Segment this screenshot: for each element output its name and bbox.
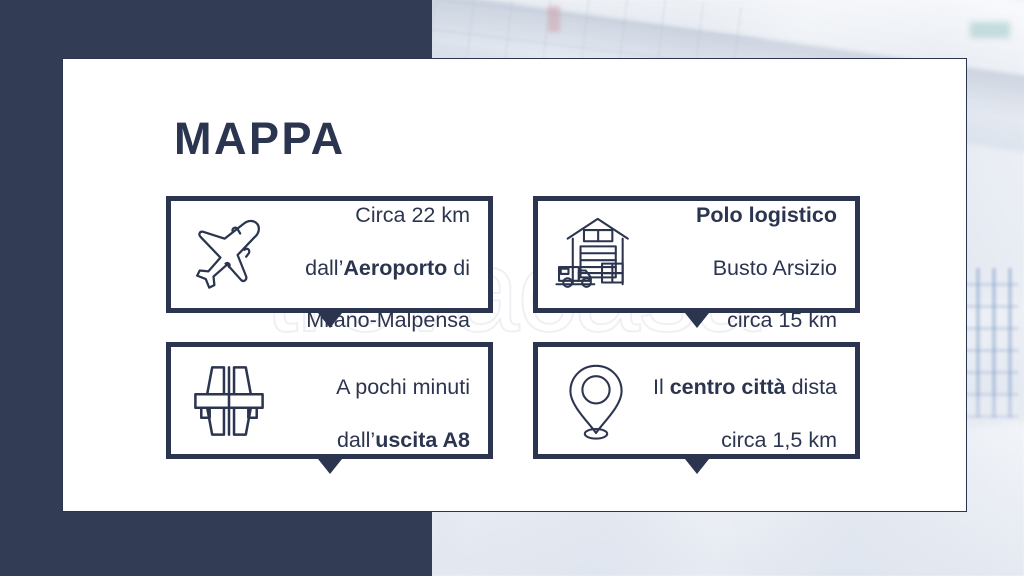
info-card-motorway-exit-text: A pochi minuti dall’uscita A8: [277, 348, 474, 453]
info-card-airport[interactable]: Circa 22 km dall’Aeroporto di Milano-Mal…: [166, 196, 493, 313]
info-card-grid: Circa 22 km dall’Aeroporto di Milano-Mal…: [166, 196, 860, 459]
down-triangle-icon: [681, 308, 713, 328]
airport-line-1: Circa 22 km: [355, 203, 470, 227]
logistics-line-1-bold: Polo logistico: [696, 203, 837, 227]
background-pink-accent: [548, 6, 560, 32]
info-card-city-centre-text: Il centro città dista circa 1,5 km: [644, 348, 841, 453]
city-line-2: circa 1,5 km: [721, 428, 837, 452]
down-triangle-icon: [314, 454, 346, 474]
map-pin-icon: [548, 353, 644, 449]
info-card-logistics-hub-text: Polo logistico Busto Arsizio circa 15 km: [644, 176, 841, 333]
logistics-line-3: circa 15 km: [727, 308, 837, 332]
background-teal-accent: [970, 22, 1010, 38]
motorway-line-2-prefix: dall’: [337, 428, 375, 452]
city-line-1-suffix: dista: [786, 375, 837, 399]
motorway-line-2-bold: uscita A8: [375, 428, 470, 452]
down-triangle-icon: [314, 308, 346, 328]
motorway-line-1: A pochi minuti: [336, 375, 470, 399]
page-title: MAPPA: [174, 113, 346, 165]
info-card-motorway-exit[interactable]: A pochi minuti dall’uscita A8: [166, 342, 493, 459]
info-card-city-centre[interactable]: Il centro città dista circa 1,5 km: [533, 342, 860, 459]
down-triangle-icon: [681, 454, 713, 474]
airport-line-2-prefix: dall’: [305, 256, 343, 280]
airplane-icon: [181, 207, 277, 303]
warehouse-truck-icon: [548, 207, 644, 303]
motorway-icon: [181, 353, 277, 449]
logistics-line-2: Busto Arsizio: [713, 256, 837, 280]
airport-line-2-suffix: di: [447, 256, 470, 280]
info-card-airport-text: Circa 22 km dall’Aeroporto di Milano-Mal…: [277, 176, 474, 333]
airport-line-2-bold: Aeroporto: [343, 256, 447, 280]
city-line-1-prefix: Il: [653, 375, 670, 399]
city-line-1-bold: centro città: [670, 375, 786, 399]
info-card-logistics-hub[interactable]: Polo logistico Busto Arsizio circa 15 km: [533, 196, 860, 313]
